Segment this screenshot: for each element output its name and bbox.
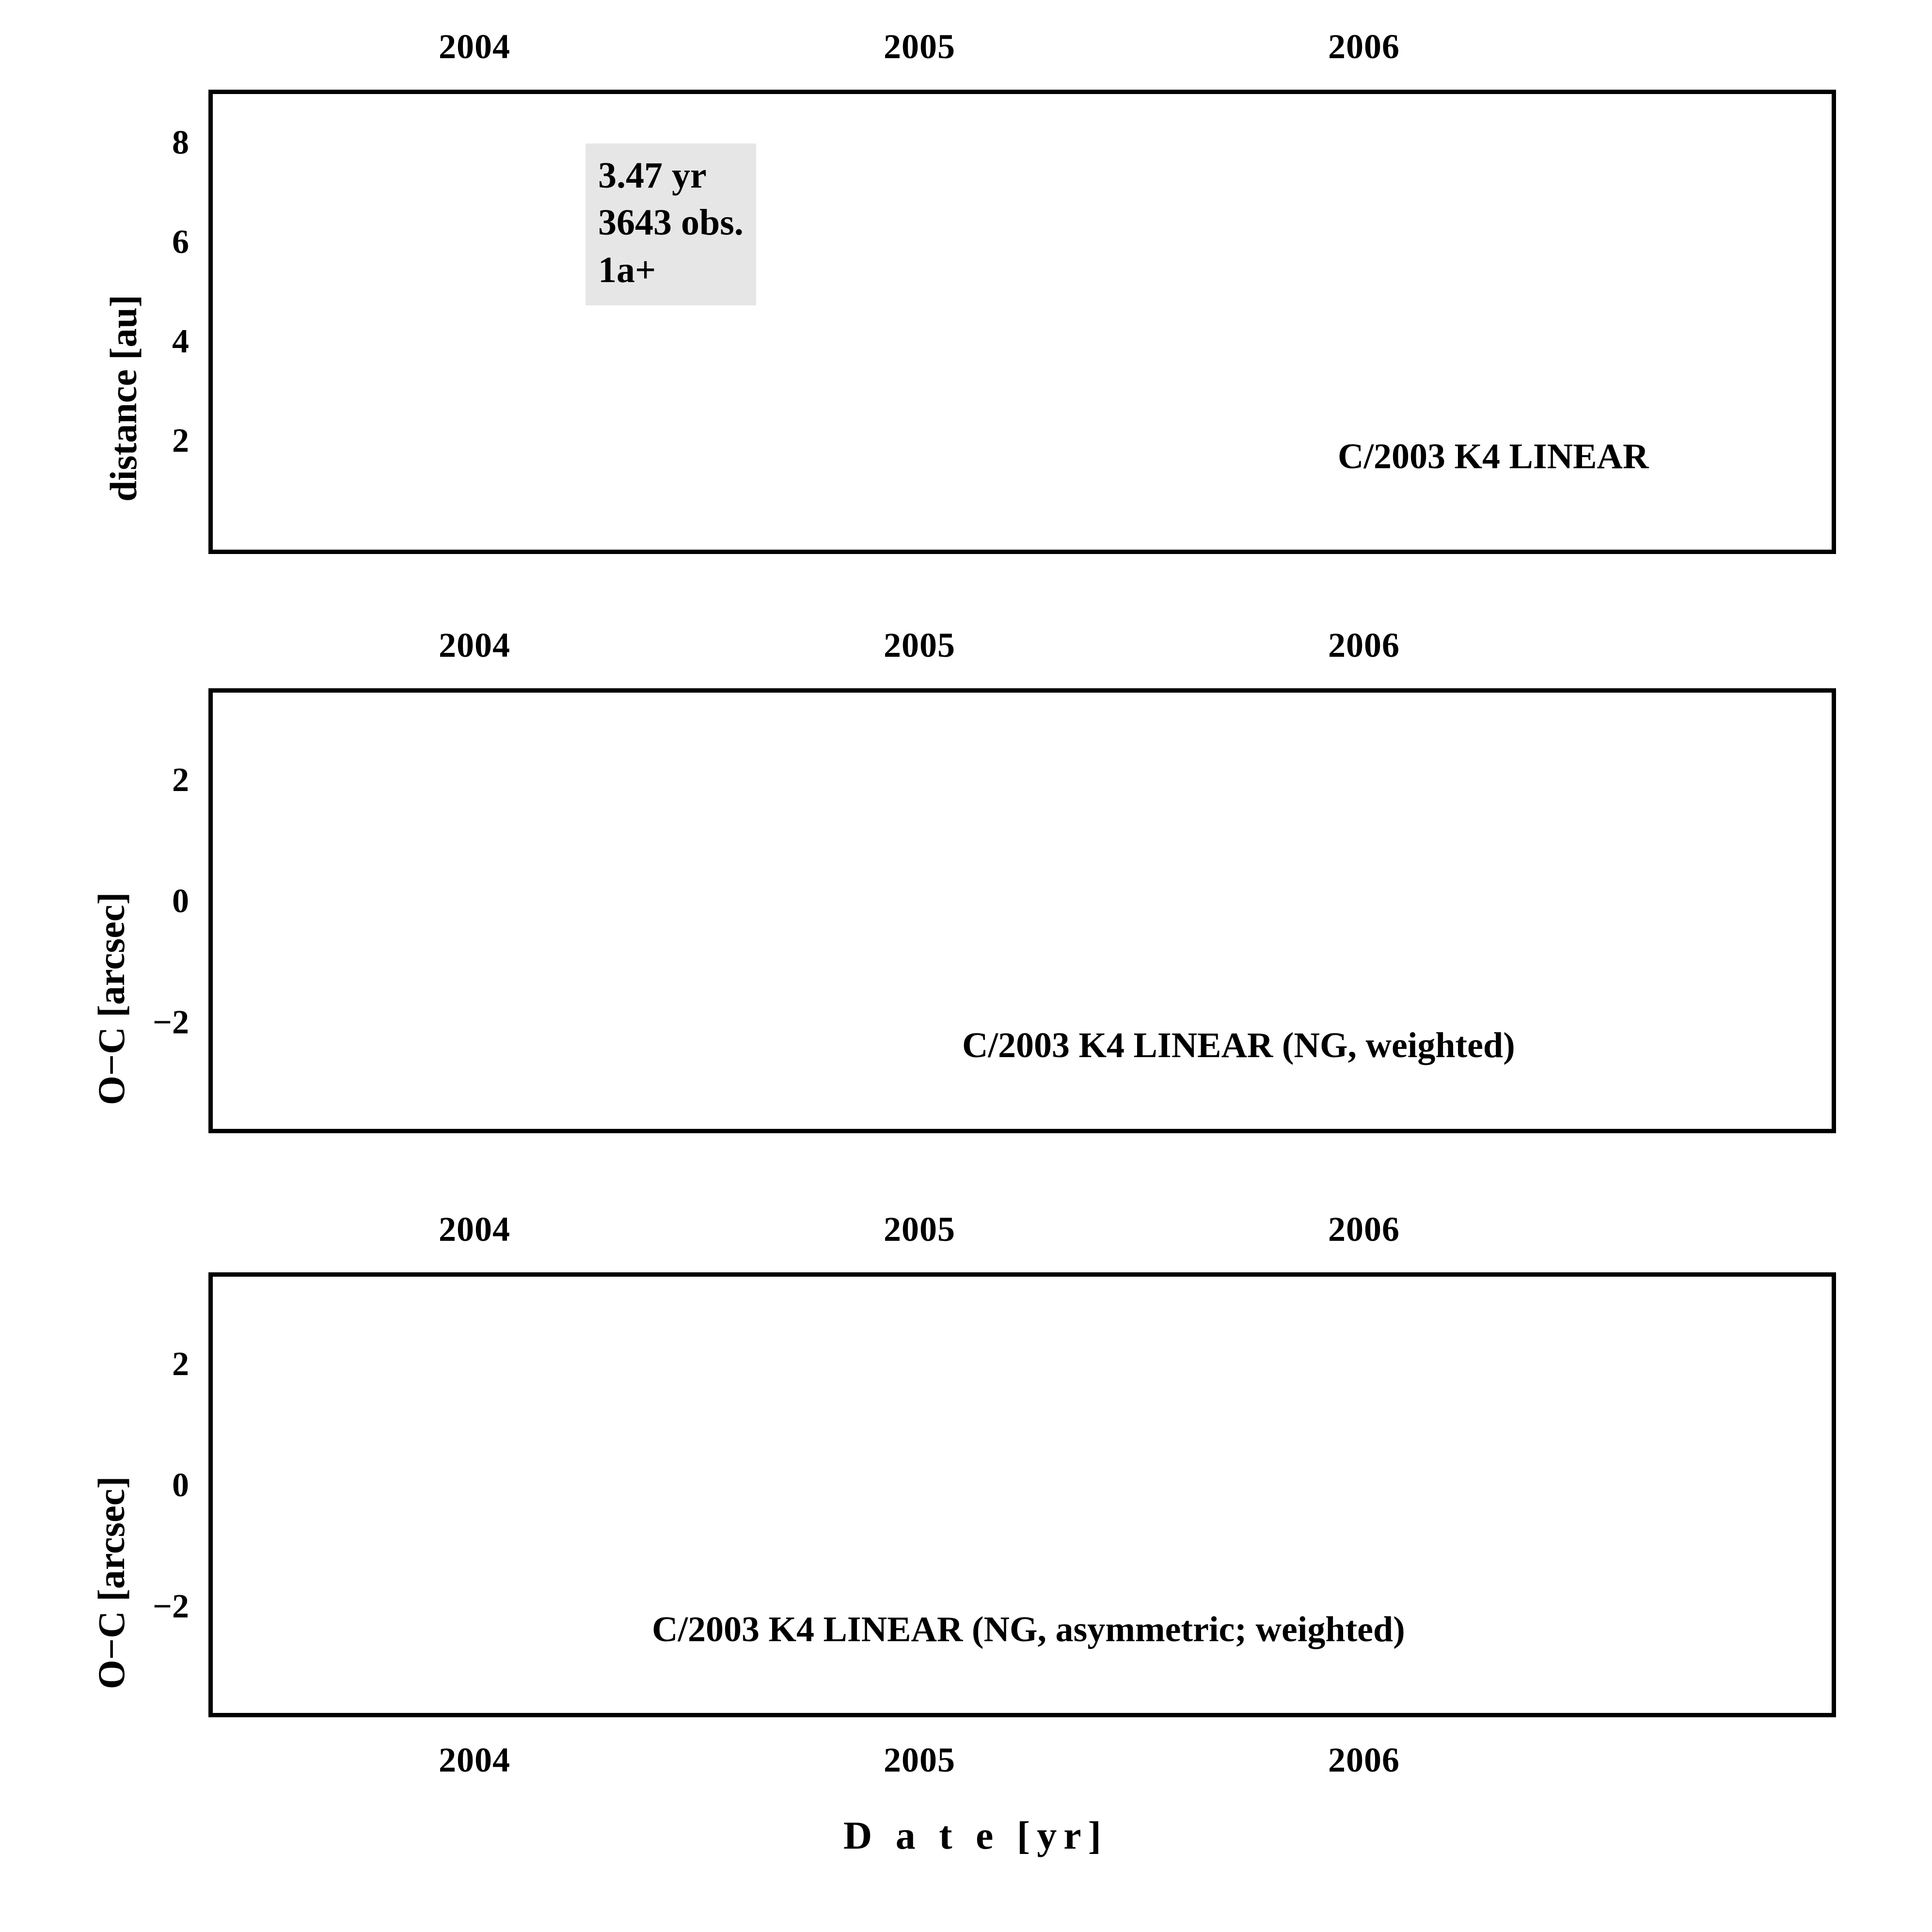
bottom-year-label-2006: 2006 [1328, 1740, 1400, 1780]
panel1-ytick-8: 8 [111, 124, 189, 162]
panel3-comet-label: C/2003 K4 LINEAR (NG, asymmetric; weight… [652, 1609, 1405, 1650]
annotation-orbit-class: 1a+ [598, 247, 744, 294]
panel2-comet-label: C/2003 K4 LINEAR (NG, weighted) [962, 1025, 1515, 1066]
panel3-year-label-2005: 2005 [884, 1209, 955, 1250]
panel1-year-label-2005: 2005 [884, 27, 955, 67]
panel3-ytick-minus2: −2 [78, 1587, 189, 1626]
orbit-quality-annotation: 3.47 yr 3643 obs. 1a+ [586, 143, 756, 305]
panel2-ytick-2: 2 [111, 761, 189, 800]
panel2-ytick-minus2: −2 [78, 1003, 189, 1042]
x-axis-title: D a t e [yr] [843, 1813, 1108, 1858]
bottom-year-label-2004: 2004 [439, 1740, 510, 1780]
panel1-year-label-2006: 2006 [1328, 27, 1400, 67]
panel2-year-label-2006: 2006 [1328, 625, 1400, 665]
comet-orbit-figure: 2004 2005 2006 distance [au] 8 6 4 2 3.4… [0, 0, 1932, 1932]
annotation-arc-length: 3.47 yr [598, 152, 744, 199]
panel3-year-label-2006: 2006 [1328, 1209, 1400, 1250]
panel1-comet-label: C/2003 K4 LINEAR [1338, 436, 1648, 477]
panel3-year-label-2004: 2004 [439, 1209, 510, 1250]
panel1-ytick-4: 4 [111, 322, 189, 361]
panel1-frame [208, 90, 1836, 554]
panel2-y-axis-title: O−C [arcsec] [90, 892, 133, 1105]
annotation-observation-count: 3643 obs. [598, 199, 744, 246]
panel3-y-axis-title: O−C [arcsec] [90, 1476, 133, 1689]
panel2-year-label-2005: 2005 [884, 625, 955, 665]
panel2-frame [208, 688, 1836, 1133]
panel1-ytick-2: 2 [111, 422, 189, 460]
panel3-frame [208, 1272, 1836, 1717]
panel1-year-label-2004: 2004 [439, 27, 510, 67]
panel2-year-label-2004: 2004 [439, 625, 510, 665]
bottom-year-label-2005: 2005 [884, 1740, 955, 1780]
panel2-ytick-0: 0 [97, 882, 189, 921]
panel3-ytick-0: 0 [97, 1466, 189, 1505]
panel3-ytick-2: 2 [111, 1345, 189, 1384]
panel1-ytick-6: 6 [111, 223, 189, 262]
